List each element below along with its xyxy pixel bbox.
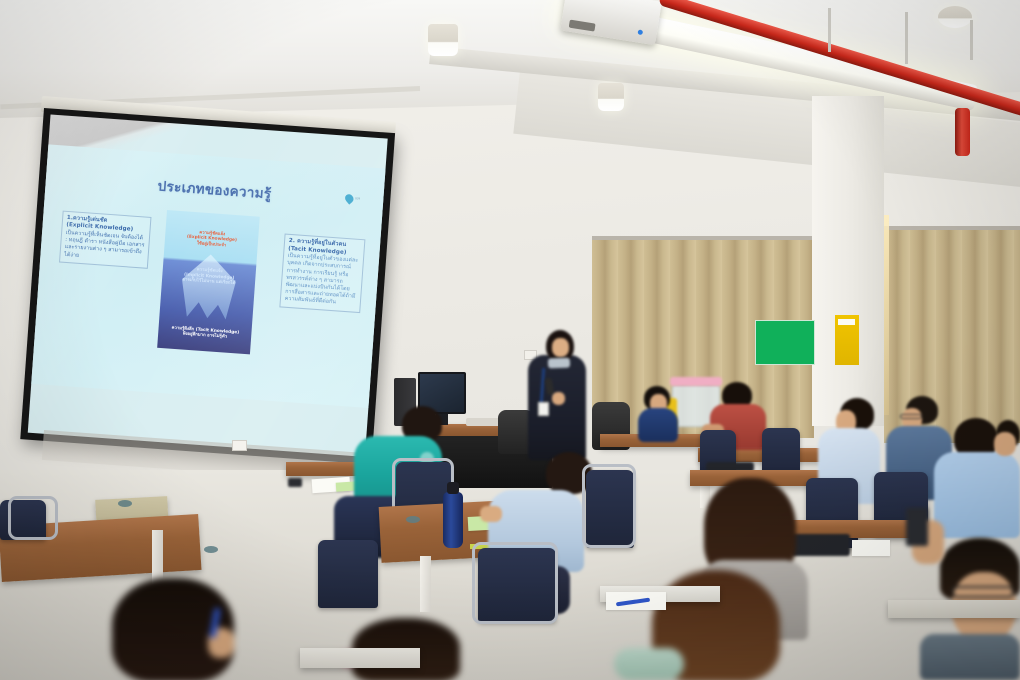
desk-leg [152,530,163,584]
desk-cable-grommet [204,546,218,553]
projection-screen-surface: ประเภทของความรู้ KM 1.ความรู้เด่นชัด (Ex… [28,114,388,456]
slide-title: ประเภทของความรู้ [45,166,384,212]
desk-cable-grommet [118,500,132,507]
curtain-rod [592,236,814,240]
iceberg-label-mid: ความรู้ชัดแจ้ง (Implicit Knowledge) อาจเ… [165,265,253,288]
presenter-torso [528,355,586,460]
desk-cable-grommet [406,516,420,523]
glasses-icon [952,586,1014,598]
student-desk-foreground-farleft [300,648,420,668]
downlight-icon [938,6,972,28]
storage-box-lid [670,377,722,386]
student-desk-foreground-right [888,600,1020,618]
water-drop-icon [343,193,355,205]
student-torso [920,634,1020,680]
fire-sprinkler-pipe-drop [955,108,970,156]
downlight-icon [428,24,458,56]
desk-leg [420,556,431,612]
green-notice-board [755,320,815,365]
presenter-face [552,338,569,357]
student-hand [480,506,502,522]
presenter-id-badge [538,402,549,416]
smartphone [906,508,928,546]
student-collar [614,648,684,680]
bottle-cap [447,482,459,494]
wall-outlet [232,440,247,451]
student-torso [638,408,678,442]
presenter-hand [552,392,565,405]
laptop [790,534,850,556]
pipe-hanger [828,8,831,52]
tacit-body: เป็นความรู้ที่อยู่ในตัวของแต่ละบุคคล เกิ… [284,253,358,306]
projector-led-icon [637,29,643,35]
slide-box-explicit-knowledge: 1.ความรู้เด่นชัด (Explicit Knowledge) เป… [59,210,152,268]
pillar-edge-light [884,215,889,415]
glasses-icon [900,414,922,419]
projection-screen: ประเภทของความรู้ KM 1.ความรู้เด่นชัด (Ex… [20,108,395,464]
slide-box-tacit-knowledge: 2. ความรู้ที่อยู่ในตัวคน (Tacit Knowledg… [279,234,365,313]
keyboard [466,418,500,426]
pipe-hanger [970,20,973,60]
yellow-document-holder [835,315,859,365]
downlight-icon [598,83,624,111]
smartphone [288,478,302,487]
pipe-hanger [905,12,908,64]
iceberg-label-below-water: ความรู้ฝังลึก (Tacit Knowledge) ฝังอยู่ล… [161,325,249,342]
chair-frame [582,464,636,548]
classroom-chair [318,540,378,608]
explicit-body: เป็นความรู้ที่เห็นชัดเจน จับต้องได้ : ทฤ… [64,230,145,259]
chair-frame [472,542,558,624]
wall-pillar [812,96,884,426]
chair-frame [8,496,58,540]
student-torso [934,452,1020,538]
white-paper [852,540,890,556]
curtain-rod [884,226,1020,230]
blue-water-bottle [443,492,463,548]
slide-logo-text: KM [355,197,360,201]
iceberg-diagram: ความรู้ชัดแจ้ง (Explicit Knowledge) ใช้อ… [157,210,260,355]
classroom-photo: ประเภทของความรู้ KM 1.ความรู้เด่นชัด (Ex… [0,0,1020,680]
presenter-collar [548,358,570,369]
iceberg-label-above-water: ความรู้ชัดแจ้ง (Explicit Knowledge) ใช้อ… [168,228,256,251]
presentation-slide: ประเภทของความรู้ KM 1.ความรู้เด่นชัด (Ex… [31,145,385,408]
slide-logo: KM [345,192,376,206]
student-face [994,432,1016,456]
classroom-chair [762,428,800,476]
